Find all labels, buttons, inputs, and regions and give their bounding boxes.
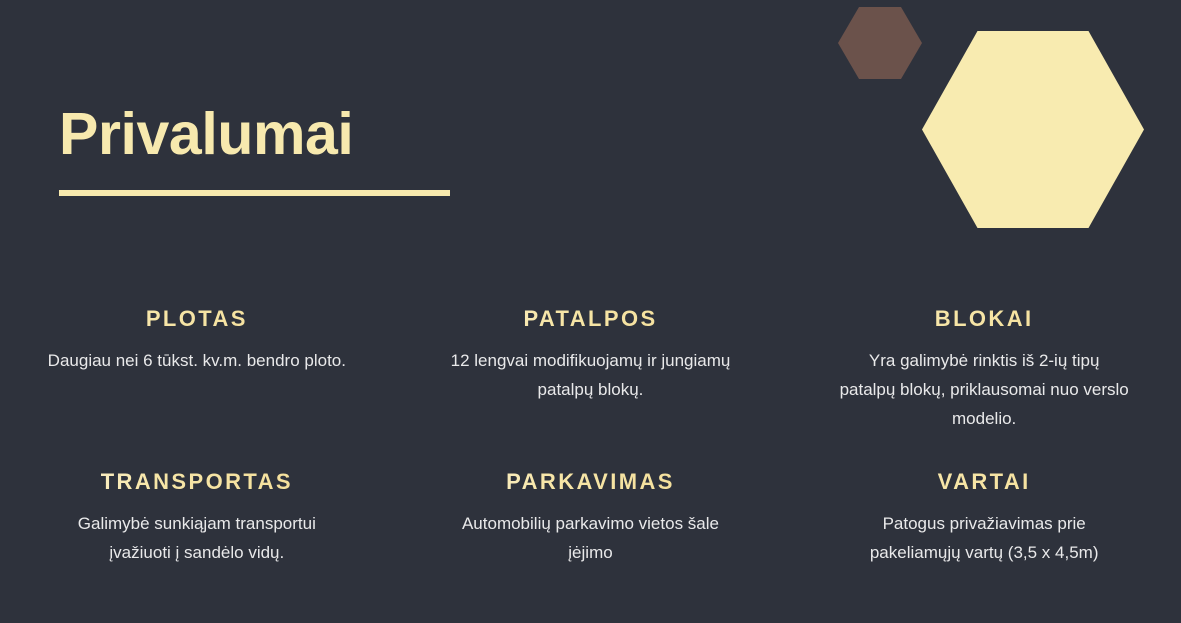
feature-body: 12 lengvai modifikuojamų ir jungiamų pat… bbox=[440, 346, 740, 404]
feature-item-plotas: PLOTAS Daugiau nei 6 tūkst. kv.m. bendro… bbox=[0, 306, 394, 434]
feature-heading: PLOTAS bbox=[22, 306, 372, 332]
feature-heading: TRANSPORTAS bbox=[22, 469, 372, 495]
feature-grid: PLOTAS Daugiau nei 6 tūkst. kv.m. bendro… bbox=[0, 306, 1181, 567]
hexagon-small-icon bbox=[838, 7, 922, 79]
feature-item-parkavimas: PARKAVIMAS Automobilių parkavimo vietos … bbox=[394, 469, 788, 567]
feature-heading: PARKAVIMAS bbox=[416, 469, 766, 495]
feature-heading: PATALPOS bbox=[416, 306, 766, 332]
feature-item-vartai: VARTAI Patogus privažiavimas prie pakeli… bbox=[787, 469, 1181, 567]
feature-body: Daugiau nei 6 tūkst. kv.m. bendro ploto. bbox=[47, 346, 347, 375]
feature-body: Automobilių parkavimo vietos šale įėjimo bbox=[440, 509, 740, 567]
feature-body: Yra galimybė rinktis iš 2-ių tipų patalp… bbox=[839, 346, 1129, 434]
title-block: Privalumai bbox=[59, 104, 579, 196]
title-underline-rule bbox=[59, 190, 450, 196]
feature-heading: VARTAI bbox=[809, 469, 1159, 495]
feature-item-blokai: BLOKAI Yra galimybė rinktis iš 2-ių tipų… bbox=[787, 306, 1181, 434]
page-title: Privalumai bbox=[59, 104, 579, 166]
feature-heading: BLOKAI bbox=[809, 306, 1159, 332]
slide-canvas: Privalumai PLOTAS Daugiau nei 6 tūkst. k… bbox=[0, 0, 1181, 623]
feature-item-patalpos: PATALPOS 12 lengvai modifikuojamų ir jun… bbox=[394, 306, 788, 434]
feature-body: Galimybė sunkiąjam transportui įvažiuoti… bbox=[47, 509, 347, 567]
hexagon-large-icon bbox=[922, 31, 1144, 228]
feature-item-transportas: TRANSPORTAS Galimybė sunkiąjam transport… bbox=[0, 469, 394, 567]
feature-body: Patogus privažiavimas prie pakeliamųjų v… bbox=[839, 509, 1129, 567]
